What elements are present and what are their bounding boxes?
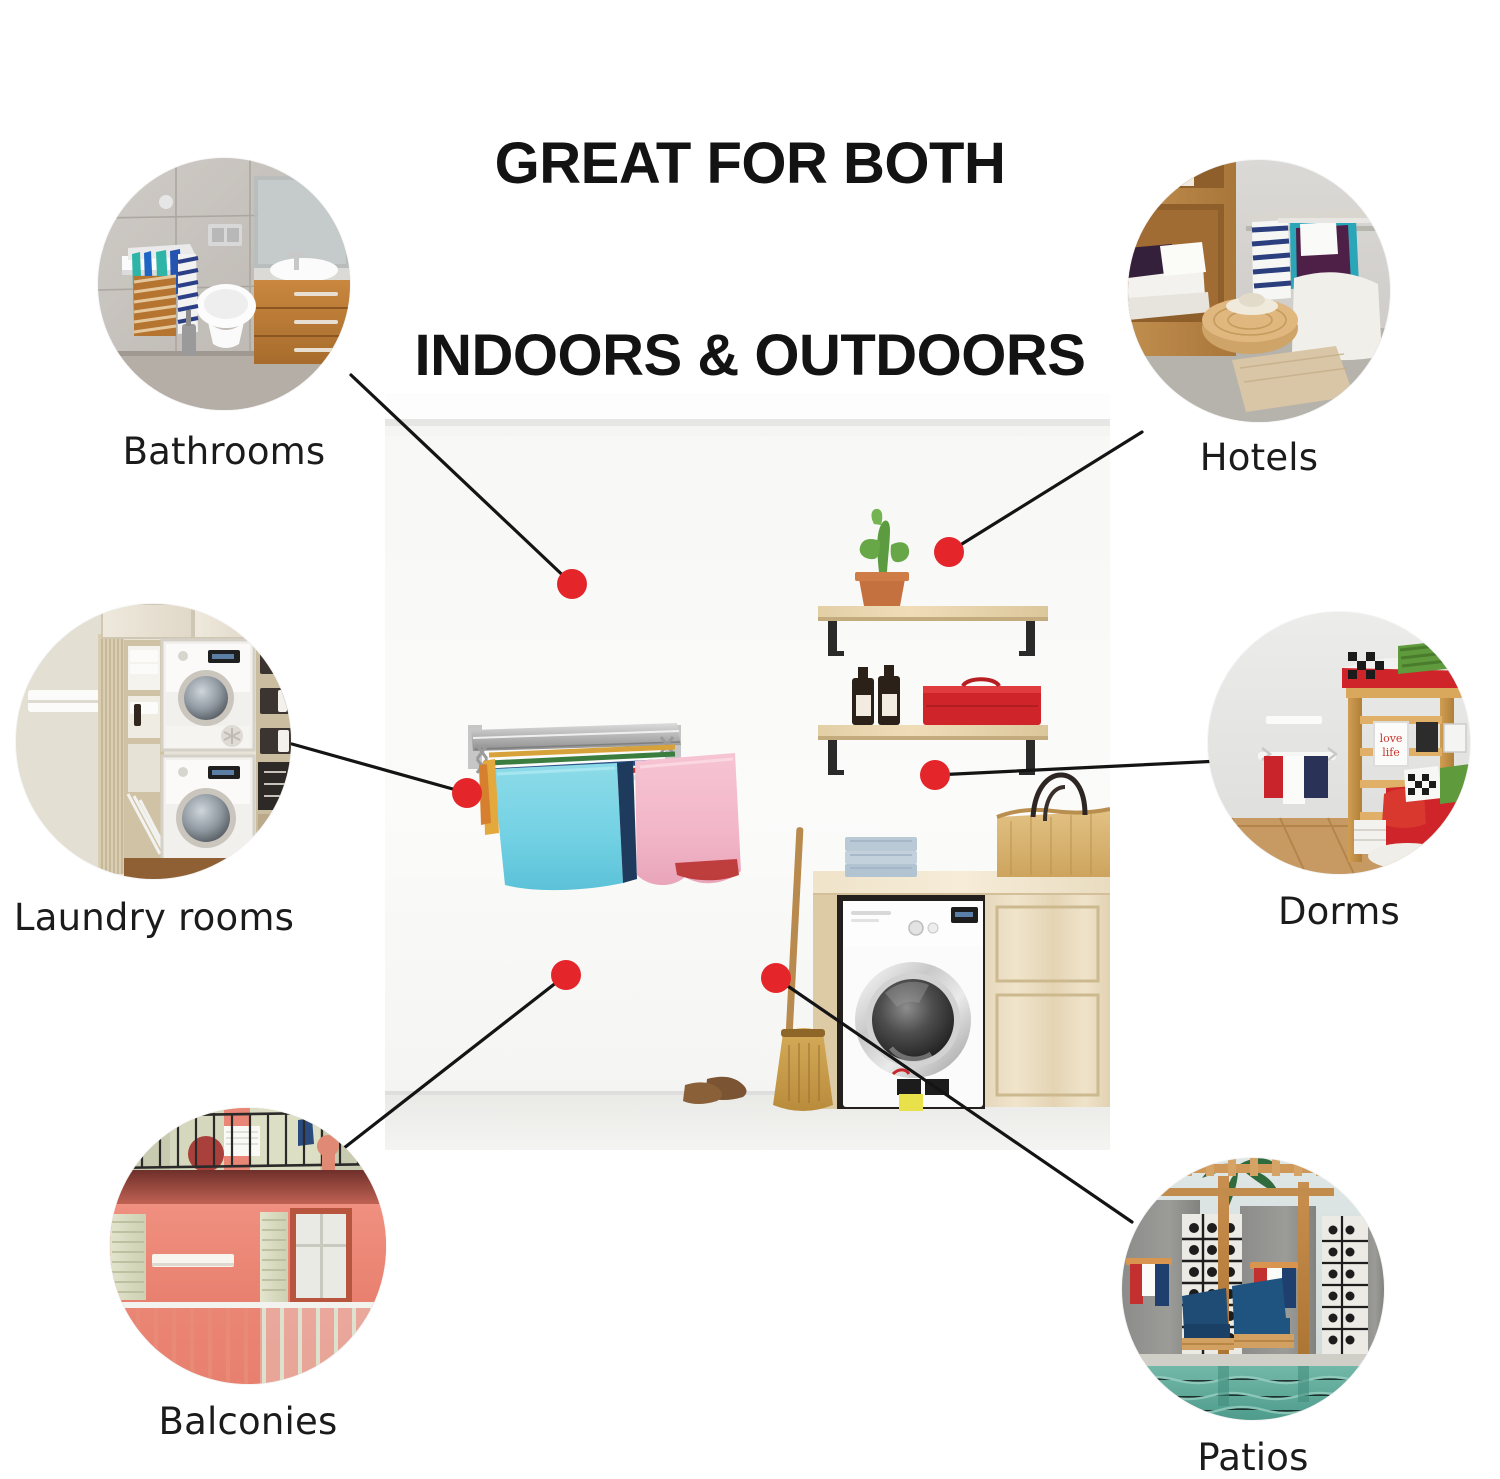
patio-scene — [1122, 1158, 1384, 1420]
callout-label-bathrooms: Bathrooms — [38, 430, 410, 473]
callout-label-dorms: Dorms — [1198, 890, 1480, 933]
front-load-washing-machine — [843, 901, 983, 1111]
callout-image-dorms: love life — [1208, 612, 1470, 874]
infographic-stage: GREAT FOR BOTH INDOORS & OUTDOORS — [0, 0, 1500, 1460]
balcony-scene — [110, 1108, 386, 1384]
callout-label-hotels: Hotels — [1118, 436, 1400, 479]
hotel-room-scene — [1128, 160, 1390, 422]
callout-patios[interactable]: Patios — [1122, 1158, 1384, 1420]
callout-label-balconies: Balconies — [88, 1400, 408, 1443]
callout-image-hotels — [1128, 160, 1390, 422]
dorm-towel-rack — [1258, 748, 1336, 804]
light-blue-towel — [493, 763, 623, 890]
bathroom-scene — [98, 158, 350, 410]
callout-image-bathrooms — [98, 158, 350, 410]
callout-image-balconies — [110, 1108, 386, 1384]
callout-balconies[interactable]: Balconies — [110, 1108, 386, 1384]
stacked-blue-towels — [845, 837, 917, 877]
dorm-room-scene: love life — [1208, 612, 1470, 874]
dorm-poster-line-1: love — [1380, 732, 1403, 745]
callout-bathrooms[interactable]: Bathrooms — [98, 158, 350, 410]
callout-laundry-rooms[interactable]: Laundry rooms — [16, 604, 291, 879]
callout-dorms[interactable]: love life — [1208, 612, 1470, 874]
callout-label-laundry-rooms: Laundry rooms — [0, 896, 322, 939]
callout-image-laundry-rooms — [16, 604, 291, 879]
laundry-room-scene — [16, 604, 291, 879]
center-product-photo — [385, 393, 1110, 1150]
callout-image-patios — [1122, 1158, 1384, 1420]
center-scene-illustration — [385, 393, 1110, 1150]
callout-hotels[interactable]: Hotels — [1128, 160, 1390, 422]
callout-label-patios: Patios — [1112, 1436, 1394, 1479]
dorm-poster-line-2: life — [1382, 746, 1400, 759]
